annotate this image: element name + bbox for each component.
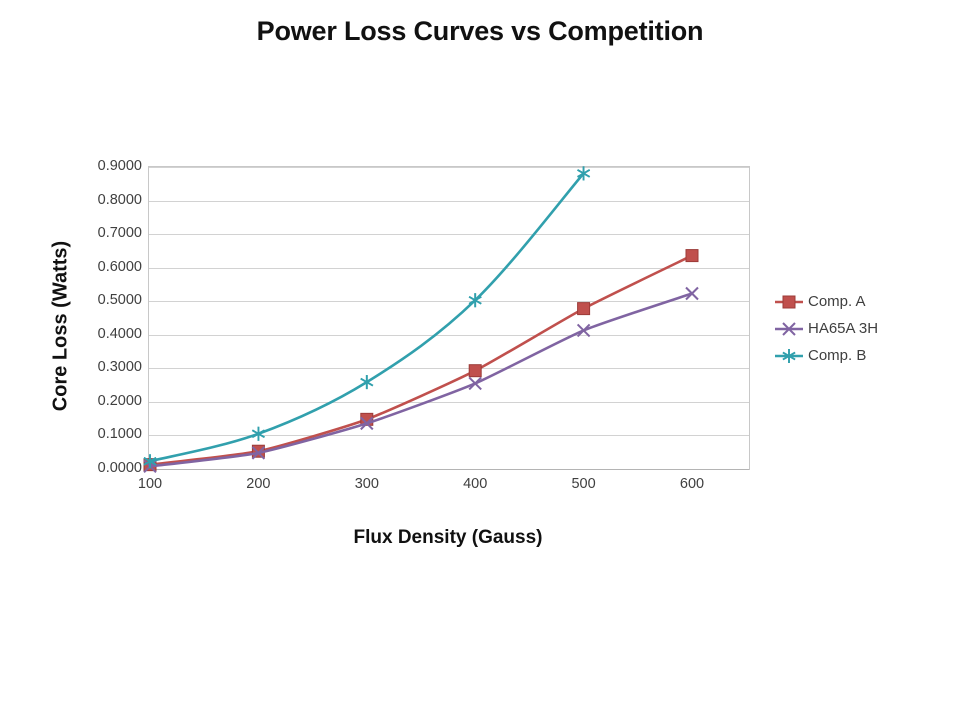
legend-marker-icon <box>774 291 804 313</box>
data-point-marker <box>469 365 481 377</box>
y-axis-tick-label: 0.4000 <box>78 326 142 342</box>
legend-marker-icon <box>774 318 804 340</box>
data-point-marker <box>686 250 698 262</box>
legend-item-label: Comp. B <box>804 347 866 364</box>
legend-item[interactable]: Comp. B <box>774 342 934 369</box>
y-axis-tick-label: 0.9000 <box>78 158 142 174</box>
y-axis-tick-label: 0.8000 <box>78 192 142 208</box>
x-axis-tick-label: 200 <box>218 476 298 492</box>
series-comp-a <box>144 250 698 471</box>
legend-item[interactable]: Comp. A <box>774 288 934 315</box>
y-axis-tick-label: 0.6000 <box>78 259 142 275</box>
data-point-marker <box>578 303 590 315</box>
y-axis-tick-label: 0.3000 <box>78 359 142 375</box>
data-point-marker <box>783 296 795 308</box>
data-point-marker <box>469 377 481 389</box>
x-axis-tick-label: 400 <box>435 476 515 492</box>
y-axis-title-container: Core Loss (Watts) <box>44 206 78 446</box>
y-axis-title: Core Loss (Watts) <box>50 241 73 411</box>
x-axis-tick-label: 500 <box>544 476 624 492</box>
chart-title: Power Loss Curves vs Competition <box>0 16 960 47</box>
y-axis-tick-label: 0.2000 <box>78 393 142 409</box>
chart-legend: Comp. AHA65A 3HComp. B <box>774 288 934 369</box>
x-axis-tick-label: 100 <box>110 476 190 492</box>
legend-item-label: Comp. A <box>804 293 866 310</box>
legend-marker-icon <box>774 345 804 367</box>
x-axis-tick-label: 600 <box>652 476 732 492</box>
x-axis-title: Flux Density (Gauss) <box>148 527 748 549</box>
data-point-marker <box>686 288 698 300</box>
legend-item[interactable]: HA65A 3H <box>774 315 934 342</box>
x-axis-tick-label: 300 <box>327 476 407 492</box>
y-axis-tick-label: 0.0000 <box>78 460 142 476</box>
series-line <box>150 294 692 467</box>
y-axis-tick-labels: 0.90000.80000.70000.60000.50000.40000.30… <box>78 166 142 468</box>
data-point-marker <box>252 427 264 441</box>
x-axis-tick-labels: 100200300400500600 <box>148 476 748 500</box>
series-line <box>150 256 692 465</box>
data-point-marker <box>361 375 373 389</box>
gridline <box>149 469 749 470</box>
y-axis-tick-label: 0.7000 <box>78 225 142 241</box>
y-axis-tick-label: 0.1000 <box>78 426 142 442</box>
data-point-marker <box>578 324 590 336</box>
y-axis-tick-label: 0.5000 <box>78 292 142 308</box>
chart-series-layer <box>148 166 748 468</box>
slide-canvas: Power Loss Curves vs Competition Core Lo… <box>0 0 960 720</box>
legend-item-label: HA65A 3H <box>804 320 878 337</box>
